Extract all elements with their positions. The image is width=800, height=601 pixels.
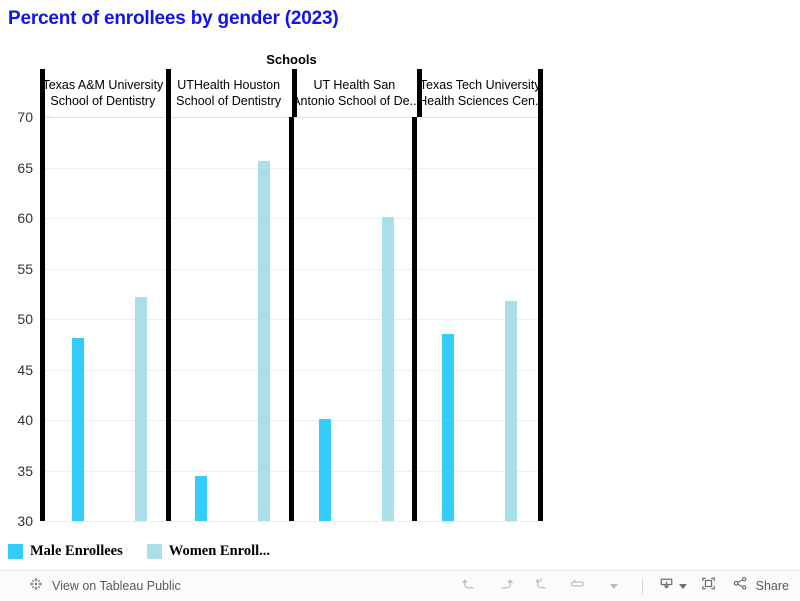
footer-toolbar: View on Tableau Public [0, 570, 800, 601]
share-label: Share [756, 579, 789, 593]
panel-2 [292, 117, 415, 521]
download-icon [657, 574, 676, 598]
plot-pane [40, 117, 543, 521]
y-tick-label-70: 70 [17, 109, 33, 125]
tableau-logo-icon [28, 576, 44, 597]
y-axis: 303540455055606570 [0, 117, 36, 521]
gridline-30 [45, 521, 538, 522]
refresh-dropdown-button[interactable] [597, 573, 631, 599]
column-header-1[interactable]: UTHealth Houston School of Dentistry [166, 69, 292, 117]
legend-swatch-women [147, 544, 162, 559]
fullscreen-icon [699, 574, 718, 598]
column-header-2-line-1: UT Health San [313, 77, 395, 93]
toolbar-divider [642, 578, 643, 594]
column-headers: Texas A&M University School of Dentistry… [40, 69, 543, 117]
column-header-0-line-1: Texas A&M University [42, 77, 163, 93]
y-tick-label-55: 55 [17, 261, 33, 277]
bar-group-3 [415, 117, 538, 521]
column-header-0-line-2: School of Dentistry [50, 93, 155, 109]
legend: Male Enrollees Women Enroll... [8, 543, 270, 560]
bar-group-0 [45, 117, 168, 521]
toolbar-actions: Share [453, 571, 792, 601]
y-axis-line [40, 117, 45, 521]
panel-3 [415, 117, 538, 521]
download-button[interactable] [654, 573, 690, 599]
fullscreen-button[interactable] [692, 573, 726, 599]
refresh-icon [568, 574, 587, 598]
column-header-2[interactable]: UT Health San Antonio School of De.. [292, 69, 418, 117]
column-header-2-line-2: Antonio School of De.. [292, 93, 416, 109]
view-on-tableau-public-label: View on Tableau Public [52, 579, 181, 593]
refresh-button[interactable] [561, 573, 595, 599]
column-header-1-line-2: School of Dentistry [176, 93, 281, 109]
bar-chart: Schools Texas A&M University School of D… [0, 50, 800, 535]
y-tick-label-30: 30 [17, 513, 33, 529]
share-icon [731, 574, 750, 598]
bar-female-2[interactable] [382, 217, 394, 521]
legend-label-male: Male Enrollees [30, 543, 123, 560]
redo-icon [496, 574, 515, 598]
legend-swatch-male [8, 544, 23, 559]
bar-male-2[interactable] [319, 419, 331, 521]
y-tick-label-50: 50 [17, 311, 33, 327]
revert-icon [532, 574, 551, 598]
chevron-down-icon [610, 584, 618, 589]
legend-item-women[interactable]: Women Enroll... [147, 543, 270, 560]
y-tick-label-40: 40 [17, 412, 33, 428]
bar-male-1[interactable] [195, 476, 207, 521]
panel-1 [168, 117, 291, 521]
column-header-3-line-1: Texas Tech University [420, 77, 541, 93]
page-title: Percent of enrollees by gender (2023) [8, 8, 339, 30]
y-tick-label-65: 65 [17, 160, 33, 176]
column-header-0[interactable]: Texas A&M University School of Dentistry [40, 69, 166, 117]
bar-male-3[interactable] [442, 334, 454, 521]
y-tick-label-45: 45 [17, 362, 33, 378]
legend-item-male[interactable]: Male Enrollees [8, 543, 123, 560]
panel-0 [45, 117, 168, 521]
bar-group-2 [292, 117, 415, 521]
x-axis-field-title: Schools [40, 52, 543, 67]
y-tick-label-60: 60 [17, 210, 33, 226]
revert-button[interactable] [525, 573, 559, 599]
bar-group-1 [168, 117, 291, 521]
y-tick-label-35: 35 [17, 463, 33, 479]
view-on-tableau-public-link[interactable]: View on Tableau Public [28, 571, 181, 601]
redo-button[interactable] [489, 573, 523, 599]
column-header-3-line-2: Health Sciences Cen.. [418, 93, 542, 109]
legend-label-women: Women Enroll... [169, 543, 270, 560]
column-header-3[interactable]: Texas Tech University Health Sciences Ce… [417, 69, 543, 117]
chevron-down-icon [679, 584, 687, 589]
chart-panels [45, 117, 538, 521]
bar-female-0[interactable] [135, 297, 147, 521]
column-header-1-line-1: UTHealth Houston [177, 77, 280, 93]
bar-female-1[interactable] [258, 161, 270, 521]
undo-icon [460, 574, 479, 598]
bar-male-0[interactable] [72, 338, 84, 521]
undo-button[interactable] [453, 573, 487, 599]
bar-female-3[interactable] [505, 301, 517, 521]
share-button[interactable]: Share [728, 573, 792, 599]
